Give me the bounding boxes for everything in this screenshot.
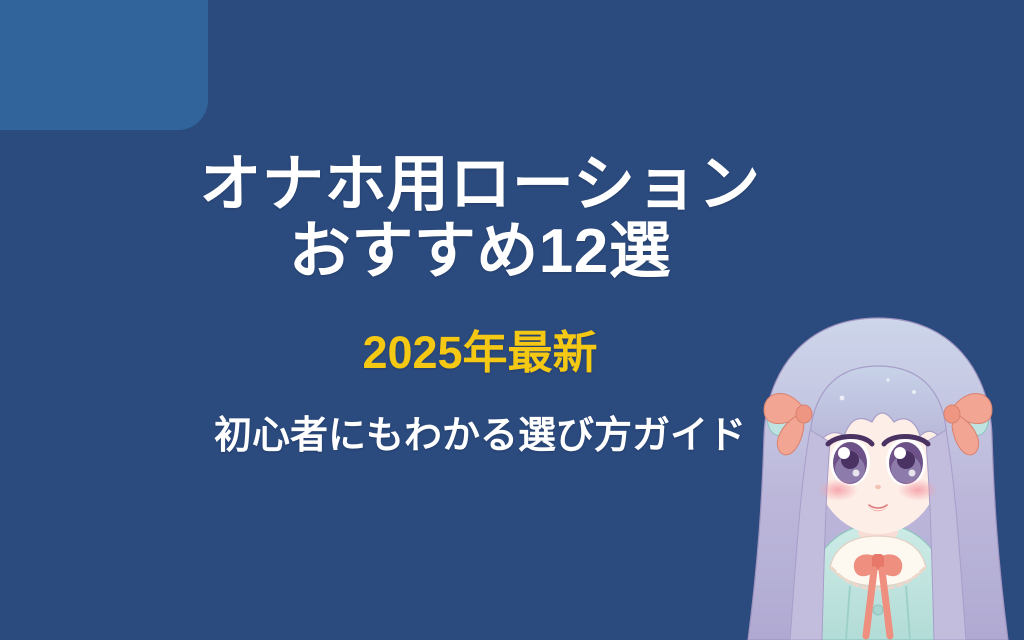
headline-line-2: おすすめ12選	[199, 219, 760, 286]
subtitle-year-badge: 2025年最新	[362, 330, 597, 375]
subtitle-guide-text: 初心者にもわかる選び方ガイド	[214, 417, 746, 455]
headline-group: オナホ用ローション おすすめ12選	[199, 152, 760, 286]
promo-banner: オナホ用ローション おすすめ12選 2025年最新 初心者にもわかる選び方ガイド	[0, 0, 1024, 640]
character-body	[748, 318, 1008, 640]
anime-girl-illustration	[738, 310, 1018, 640]
decorative-corner-block	[0, 0, 208, 130]
headline-line-1: オナホ用ローション	[199, 152, 760, 219]
